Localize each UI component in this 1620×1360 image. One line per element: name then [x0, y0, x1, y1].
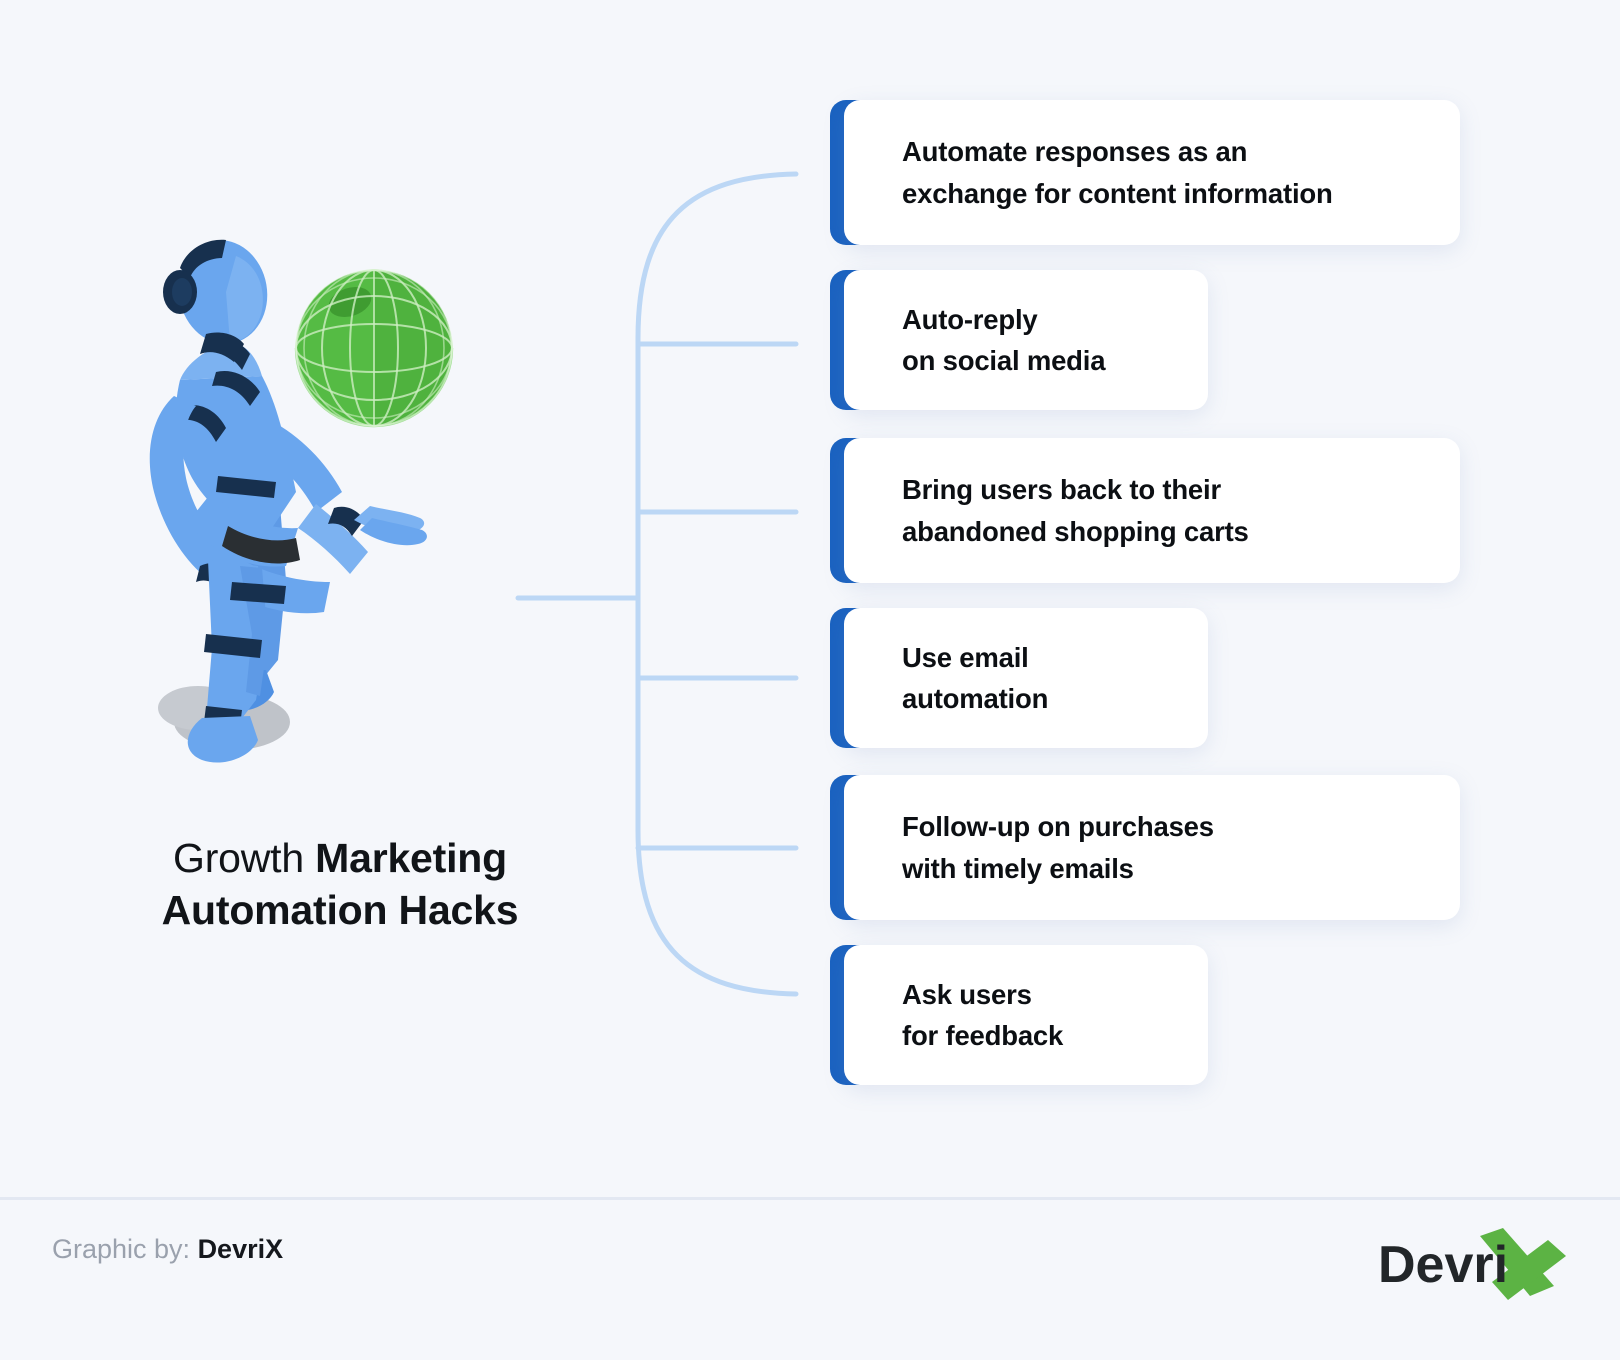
bracket-bottom-curve: [638, 830, 796, 994]
card-text: Bring users back to their abandoned shop…: [902, 469, 1249, 552]
card-text: Use email automation: [902, 637, 1048, 720]
logo-wordmark: Devri: [1378, 1236, 1508, 1294]
title-bold-part-2: Automation Hacks: [162, 887, 519, 933]
title-bold-part-1: Marketing: [315, 835, 507, 881]
connector-bracket: [500, 130, 820, 1040]
devrix-logo[interactable]: Devri: [1372, 1224, 1572, 1302]
card-text: Automate responses as an exchange for co…: [902, 131, 1333, 214]
credit-name: DevriX: [198, 1234, 284, 1264]
card-body: Auto-reply on social media: [844, 270, 1208, 410]
robot-illustration: [110, 230, 540, 790]
card-body: Use email automation: [844, 608, 1208, 748]
globe: [296, 270, 452, 426]
hacks-card-list: Automate responses as an exchange for co…: [830, 100, 1490, 1110]
hack-card[interactable]: Automate responses as an exchange for co…: [830, 100, 1460, 245]
footer-divider: [0, 1197, 1620, 1200]
hack-card[interactable]: Follow-up on purchases with timely email…: [830, 775, 1460, 920]
card-body: Bring users back to their abandoned shop…: [844, 438, 1460, 583]
card-text: Auto-reply on social media: [902, 299, 1105, 382]
card-body: Follow-up on purchases with timely email…: [844, 775, 1460, 920]
hack-card[interactable]: Auto-reply on social media: [830, 270, 1208, 410]
hack-card[interactable]: Ask users for feedback: [830, 945, 1208, 1085]
infographic-canvas: Growth Marketing Automation Hacks: [0, 0, 1620, 1360]
card-body: Automate responses as an exchange for co…: [844, 100, 1460, 245]
card-text: Ask users for feedback: [902, 974, 1063, 1057]
credit-prefix: Graphic by:: [52, 1234, 198, 1264]
footer-credit: Graphic by: DevriX: [52, 1233, 283, 1265]
card-body: Ask users for feedback: [844, 945, 1208, 1085]
hack-card[interactable]: Bring users back to their abandoned shop…: [830, 438, 1460, 583]
hack-card[interactable]: Use email automation: [830, 608, 1208, 748]
bracket-top-curve: [638, 174, 796, 338]
title-light-part: Growth: [173, 835, 315, 881]
card-text: Follow-up on purchases with timely email…: [902, 806, 1214, 889]
